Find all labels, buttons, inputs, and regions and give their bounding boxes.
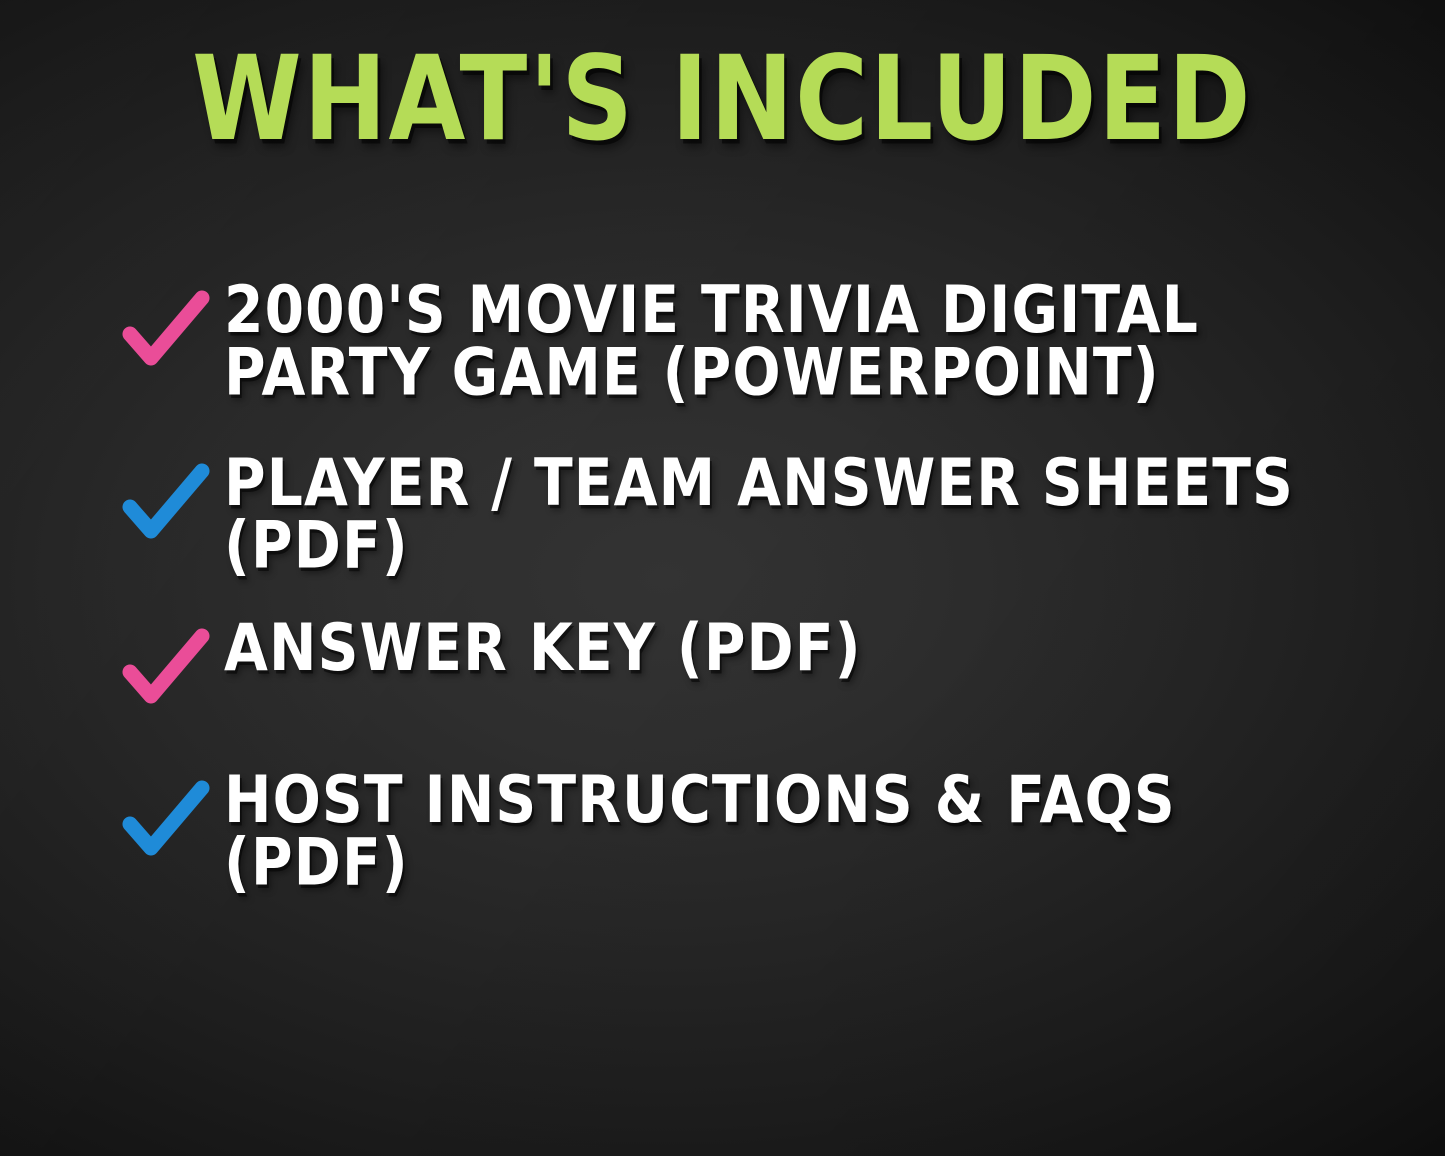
page-title: WHAT'S INCLUDED bbox=[192, 42, 1252, 159]
list-item-label: PLAYER / TEAM ANSWER SHEETS (PDF) bbox=[224, 449, 1325, 577]
check-mark-icon bbox=[118, 620, 214, 716]
check-mark-icon bbox=[118, 772, 214, 868]
list-item-label: ANSWER KEY (PDF) bbox=[224, 614, 1325, 680]
list-item: ANSWER KEY (PDF) bbox=[118, 614, 1408, 716]
check-mark-icon bbox=[118, 282, 214, 378]
whats-included-slide: WHAT'S INCLUDED 2000'S MOVIE TRIVIA DIGI… bbox=[0, 0, 1445, 1156]
page-title-container: WHAT'S INCLUDED bbox=[0, 42, 1445, 150]
list-item: 2000'S MOVIE TRIVIA DIGITAL PARTY GAME (… bbox=[118, 276, 1408, 397]
list-item: PLAYER / TEAM ANSWER SHEETS (PDF) bbox=[118, 449, 1408, 570]
list-item: HOST INSTRUCTIONS & FAQS (PDF) bbox=[118, 766, 1408, 887]
check-mark-icon bbox=[118, 455, 214, 551]
list-item-label: 2000'S MOVIE TRIVIA DIGITAL PARTY GAME (… bbox=[224, 276, 1325, 404]
included-items-list: 2000'S MOVIE TRIVIA DIGITAL PARTY GAME (… bbox=[118, 276, 1408, 887]
list-item-label: HOST INSTRUCTIONS & FAQS (PDF) bbox=[224, 766, 1325, 894]
